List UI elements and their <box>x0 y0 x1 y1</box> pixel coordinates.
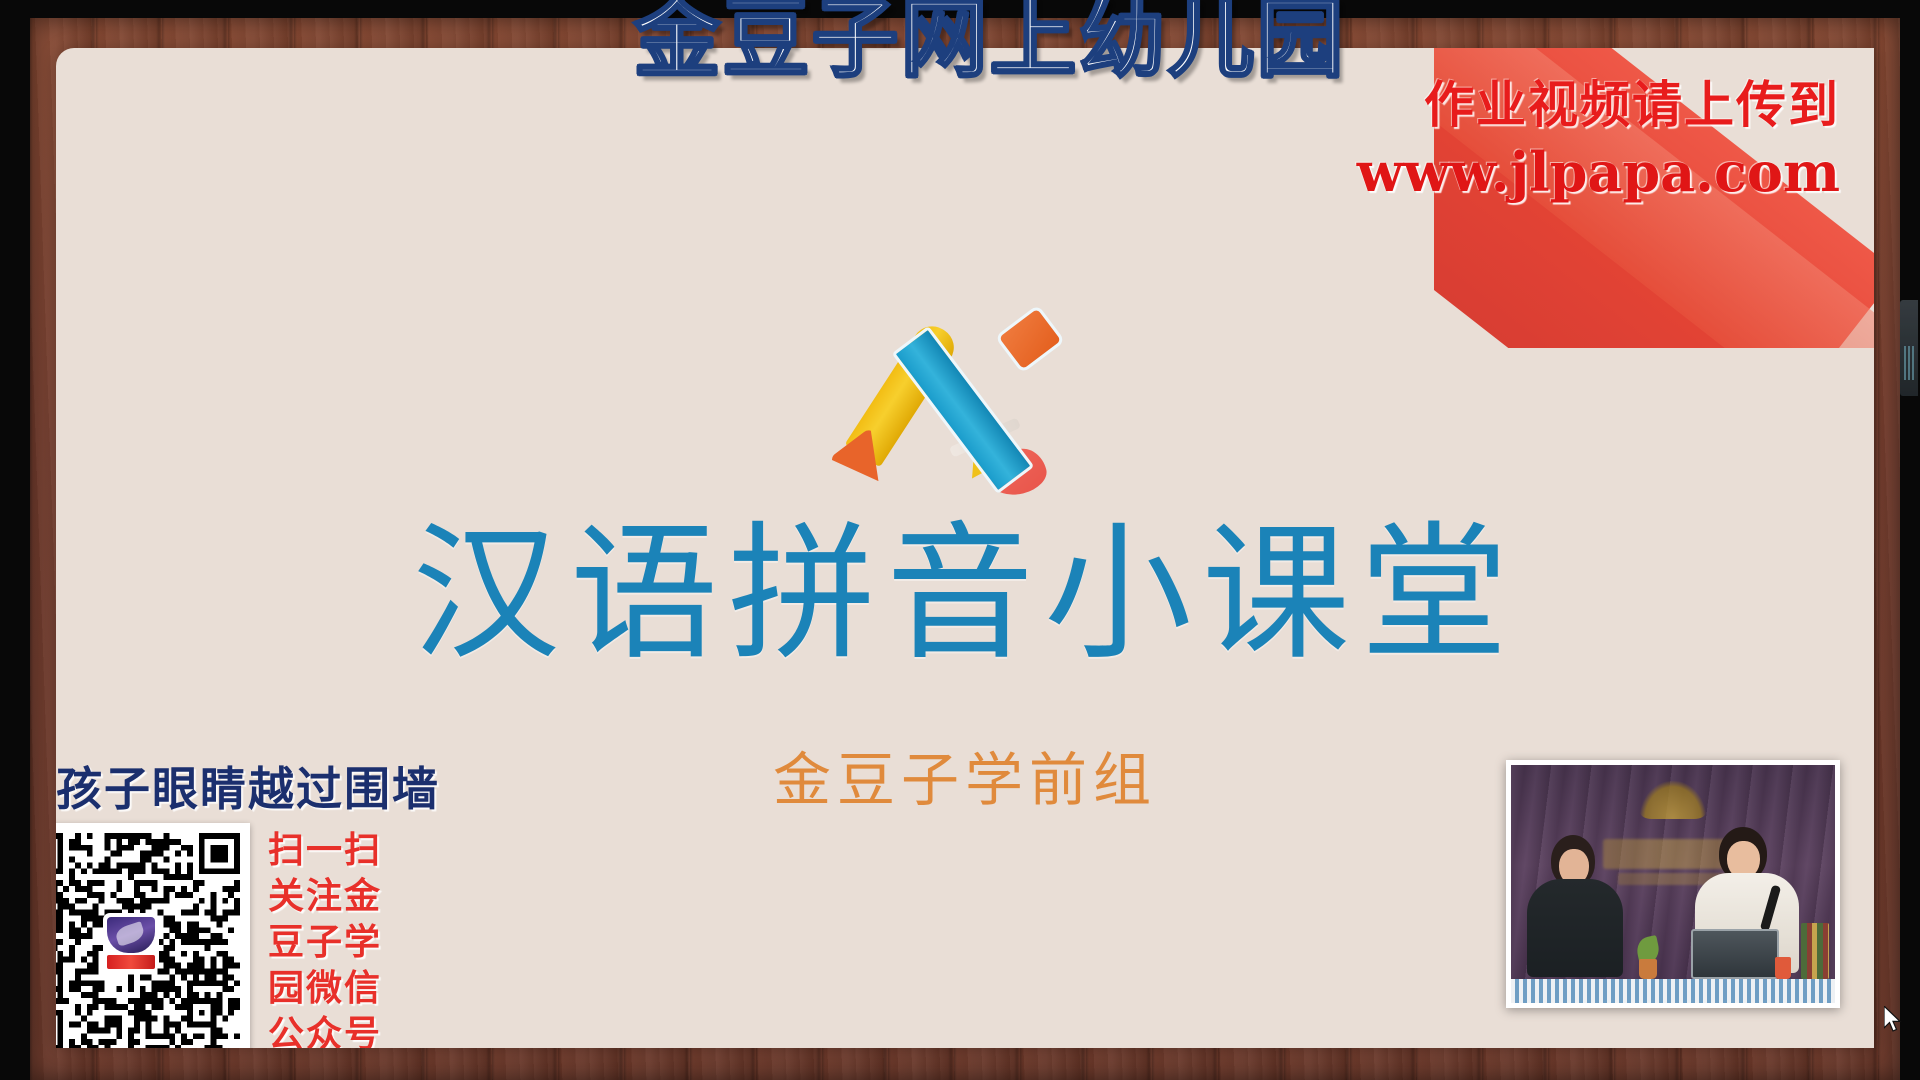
lesson-title: 汉语拼音小课堂 <box>56 516 1874 673</box>
promo-block: 作业视频请上传到 www.jlpapa.com <box>1357 76 1840 204</box>
desk-surface <box>1511 979 1835 1003</box>
qr-card[interactable] <box>56 823 250 1048</box>
laptop-icon <box>1691 929 1779 979</box>
desk-books <box>1801 923 1829 979</box>
video-thumbnail[interactable] <box>1506 760 1840 1008</box>
shield-shape <box>107 917 155 953</box>
plant-pot <box>1639 959 1657 979</box>
video-frame <box>1511 765 1835 1003</box>
qr-caption-line: 园微信 <box>268 965 382 1011</box>
shield-logo-icon <box>105 915 157 969</box>
qr-caption: 扫一扫 关注金 豆子学 园微信 公众号 <box>268 823 382 1048</box>
slogan-text: 让孩子眼睛越过围墙 <box>56 753 440 819</box>
qr-caption-line: 公众号 <box>268 1011 382 1048</box>
page-title: 金豆子网上幼儿园 <box>0 0 1920 84</box>
qr-caption-line: 关注金 <box>268 873 382 919</box>
presenter-left <box>1525 835 1625 975</box>
blue-pencil-eraser <box>995 304 1066 373</box>
desk-cup <box>1775 957 1791 979</box>
edge-panel-bars-icon <box>1904 346 1914 380</box>
slide-page: 汉语拼音小课堂 金豆子学前组 作业视频请上传到 www.jlpapa.com 让… <box>56 48 1874 1048</box>
page-title-text: 金豆子网上幼儿园 <box>574 0 1346 84</box>
presenter-left-body <box>1527 879 1623 977</box>
lesson-block: 汉语拼音小课堂 金豆子学前组 <box>56 310 1874 817</box>
crossed-pencils-icon <box>820 310 1110 510</box>
edge-panel-handle[interactable] <box>1900 300 1918 396</box>
promo-line-2: www.jlpapa.com <box>1357 140 1840 205</box>
promo-line-1: 作业视频请上传到 <box>1357 76 1840 134</box>
desk-plant <box>1635 937 1661 979</box>
qr-block: 扫一扫 关注金 豆子学 园微信 公众号 <box>56 823 382 1048</box>
qr-caption-line: 豆子学 <box>268 919 382 965</box>
shield-band <box>107 955 155 969</box>
qr-caption-line: 扫一扫 <box>268 827 382 873</box>
screen-root: 汉语拼音小课堂 金豆子学前组 作业视频请上传到 www.jlpapa.com 让… <box>0 0 1920 1080</box>
